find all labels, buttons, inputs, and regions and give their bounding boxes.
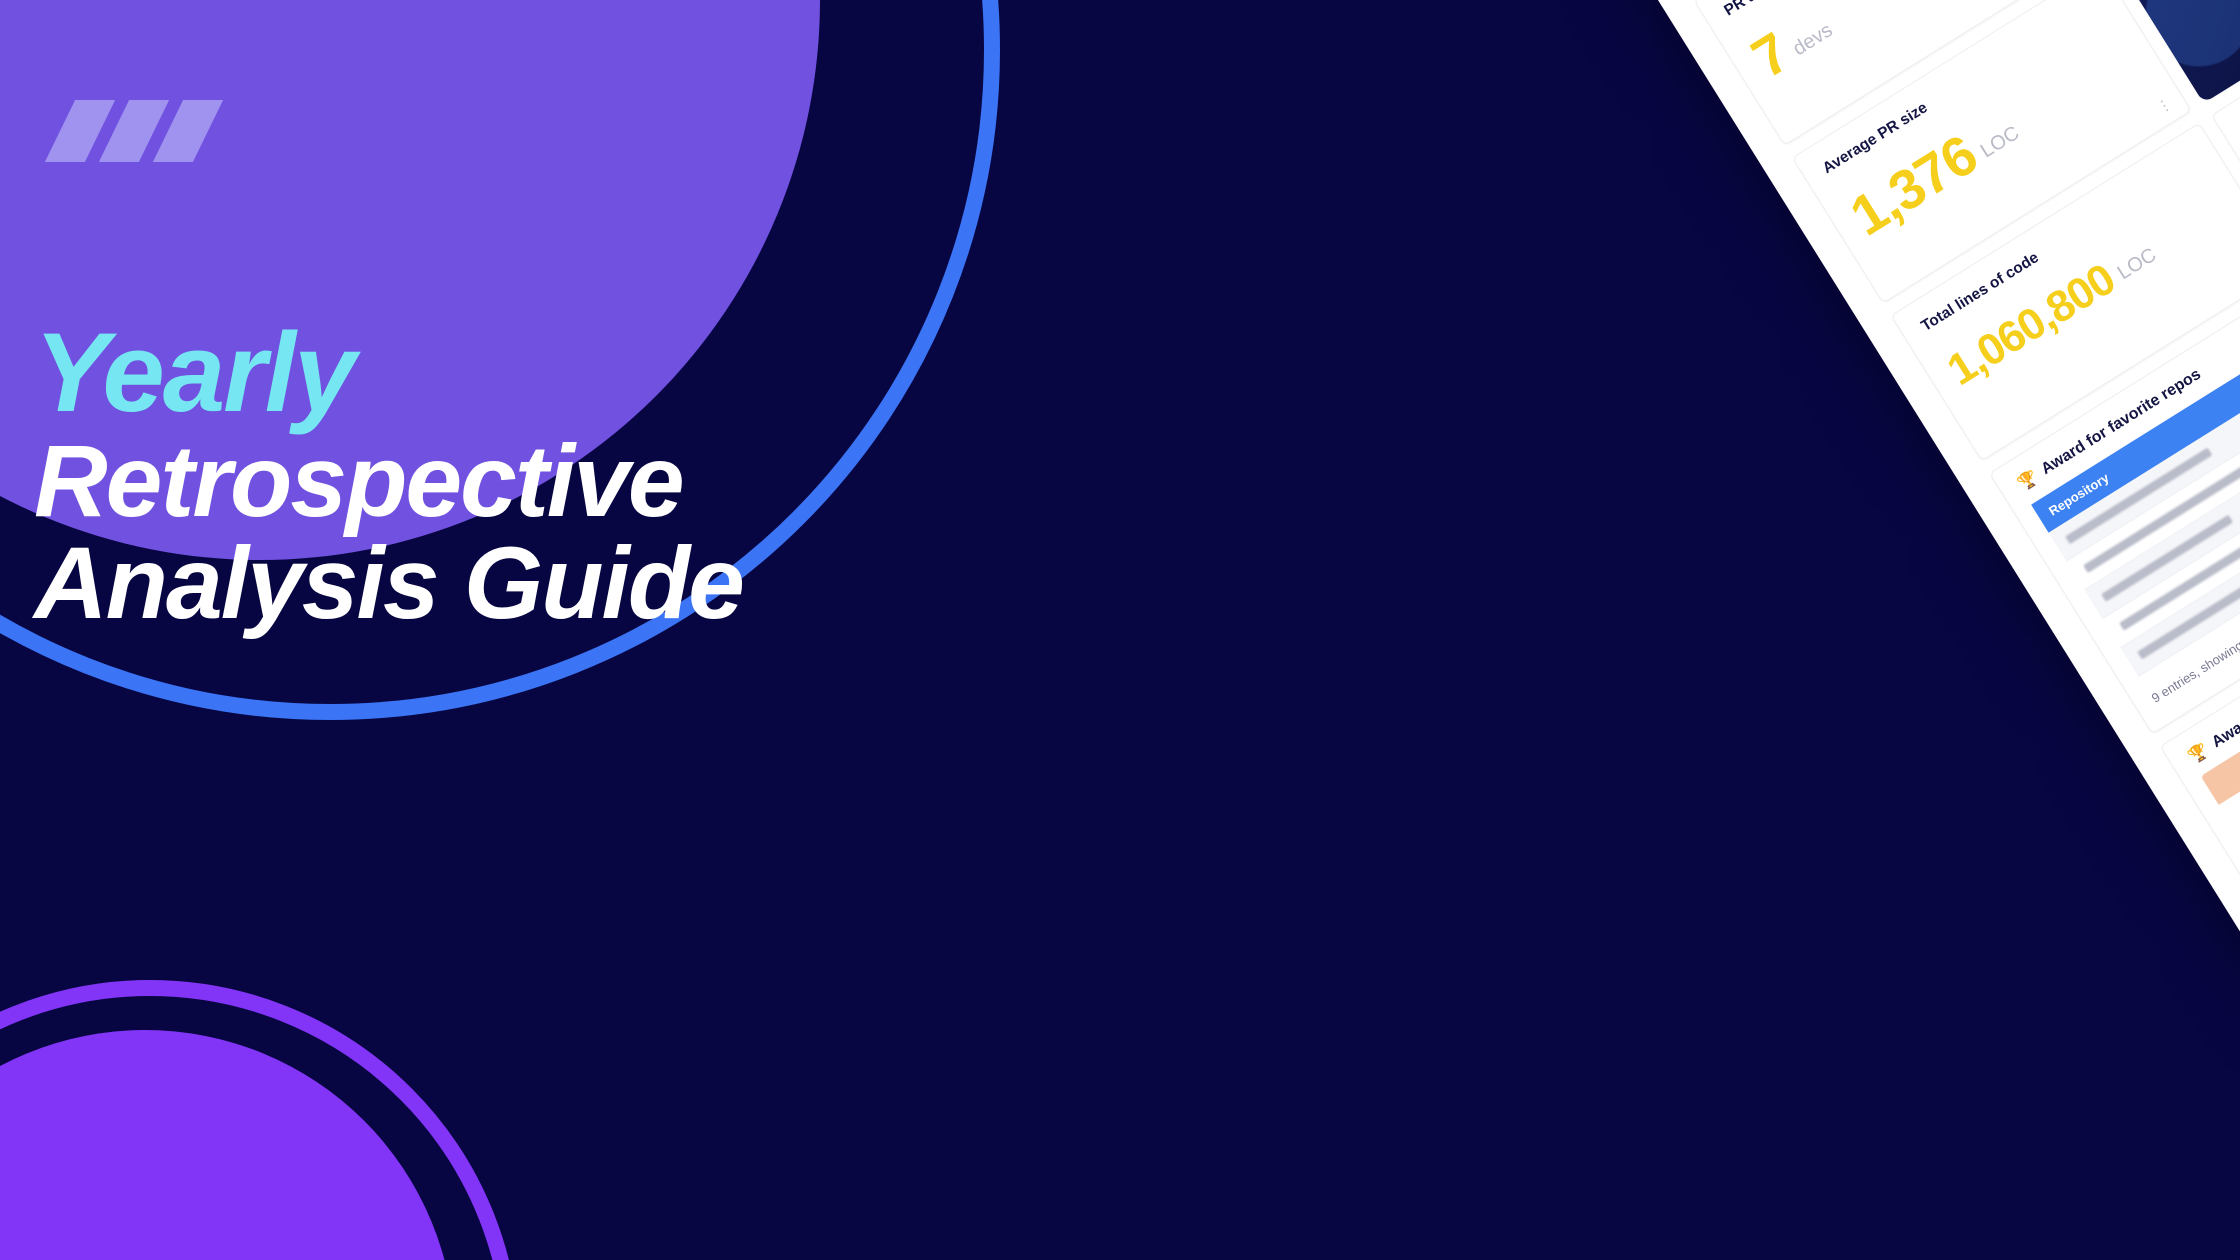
headline-line-1: Yearly [34,318,974,428]
headline-line-3: Analysis Guide [34,534,974,634]
metric-unit: LOC [2113,243,2162,288]
keypup-slashes-logo [52,100,232,162]
metric-value: 1,060,800 [1942,259,2121,392]
trophy-icon: 🏆 [2185,740,2212,768]
metrics-grid: Opened PRs 771 PRs ⋮ Commits made 5,023 … [1595,0,2240,892]
headline-line-2: Retrospective [34,432,974,532]
poster-canvas: Yearly Retrospective Analysis Guide 🎉 20… [0,0,2240,1260]
retrospective-dashboard: 🎉 2023 RETROSPECTIVE 👏 What a year! Chec… [1490,0,2240,1004]
trophy-icon: 🏆 [2014,467,2041,495]
poster-headline: Yearly Retrospective Analysis Guide [34,318,974,634]
metric-value: 7 [1745,26,1797,85]
metric-unit: LOC [1977,122,2026,167]
metric-unit: devs [1789,20,1839,65]
kebab-menu-icon[interactable]: ⋮ [2154,96,2175,117]
purple-disc-bottom-decoration [0,1030,455,1260]
tilted-dashboard-wrapper: 🎉 2023 RETROSPECTIVE 👏 What a year! Chec… [1060,0,2240,1202]
